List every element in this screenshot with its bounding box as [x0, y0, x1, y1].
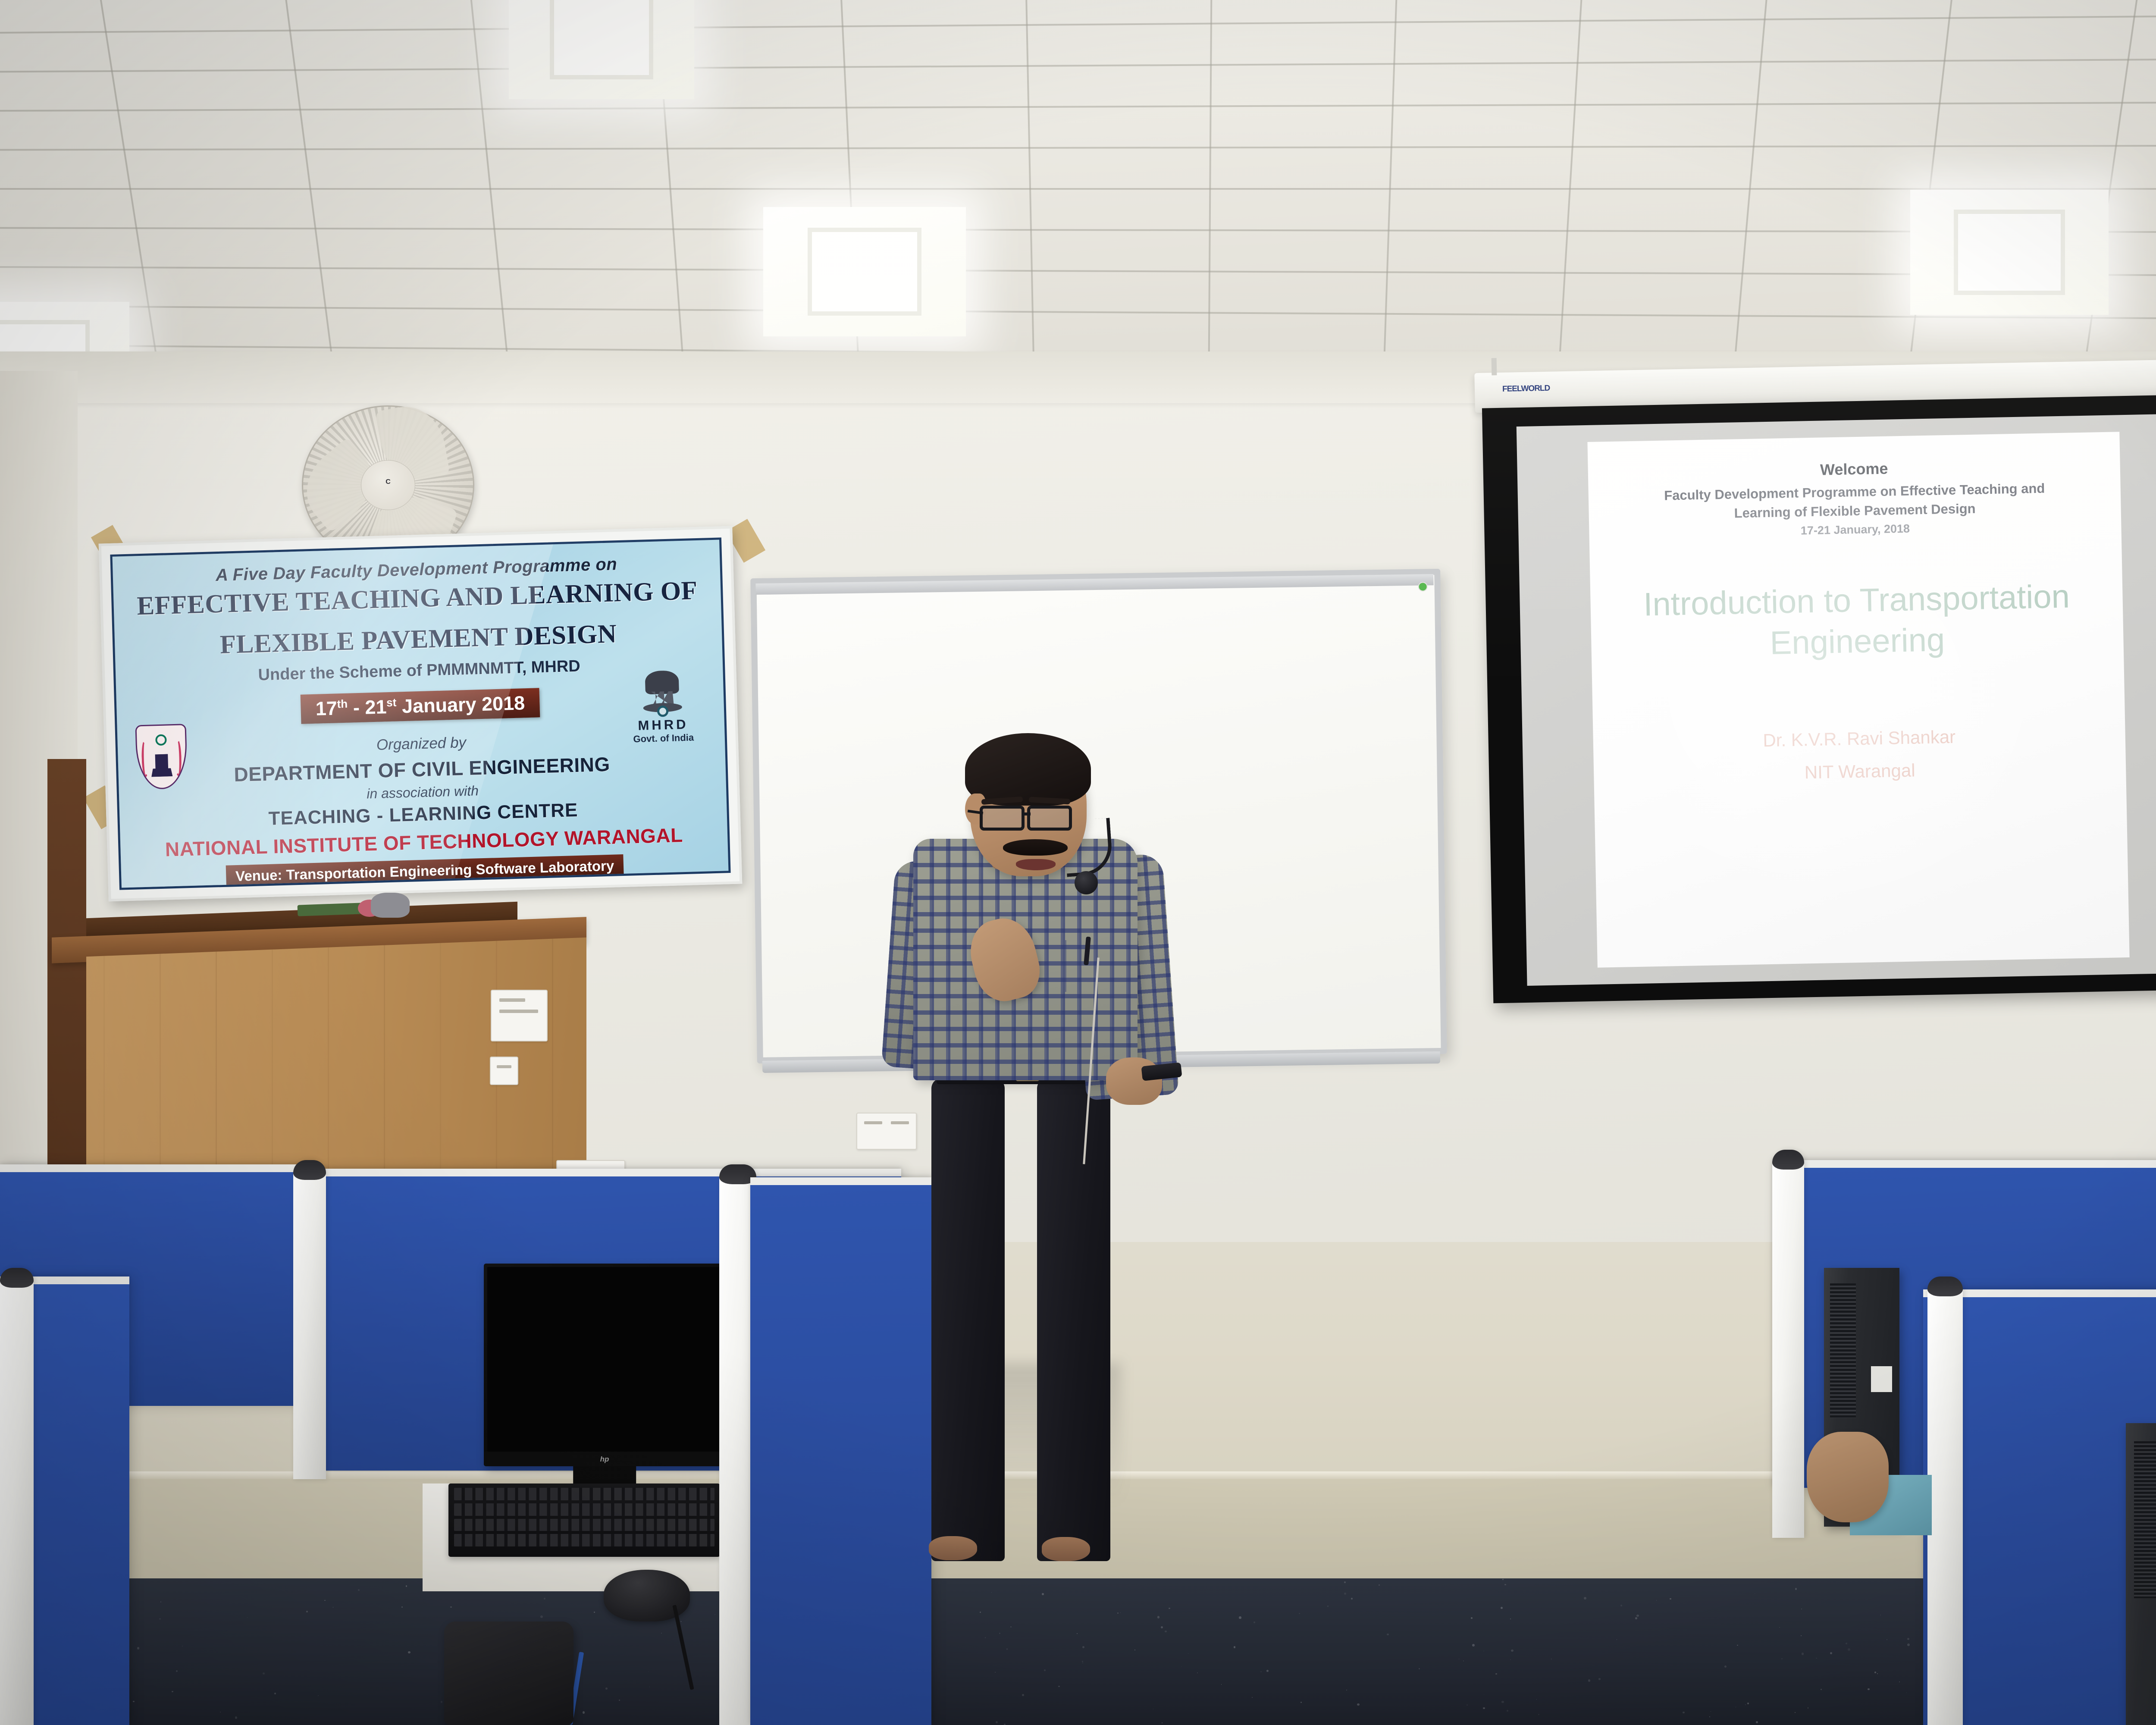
cubicle-post-left-a [0, 1268, 34, 1725]
mhrd-sublabel: Govt. of India [624, 732, 702, 745]
banner-title-line-2: FLEXIBLE PAVEMENT DESIGN [126, 617, 711, 662]
presentation-slide: Welcome Faculty Development Programme on… [1588, 432, 2130, 968]
ceiling-light-fixture-3 [1910, 190, 2109, 315]
whiteboard-corner-pin-icon [1418, 582, 1427, 591]
suspended-ceiling [0, 0, 2156, 379]
presenter-mouth [1016, 859, 1056, 870]
banner-date-band: 17th - 21st January 2018 [301, 688, 540, 724]
presenter-eyeglasses-bridge [1025, 812, 1031, 815]
fan-hub-mark: C [385, 478, 391, 486]
slide-main-title: Introduction to Transportation Engineeri… [1624, 576, 2090, 667]
presenter-moustache [1003, 839, 1068, 856]
screen-brand-logo: FEELWORLD [1502, 384, 1550, 394]
presenter-hair [965, 733, 1091, 806]
mhrd-emblem-group: MHRD Govt. of India [623, 670, 702, 745]
wall-socket-panel-2[interactable] [490, 1057, 518, 1085]
screen-white-surface: Welcome Faculty Development Programme on… [1517, 414, 2156, 986]
mhrd-label: MHRD [624, 716, 702, 734]
ceiling-light-fixture-1 [509, 0, 694, 99]
seated-participant-hand [1807, 1432, 1889, 1522]
podium-item-grey [371, 893, 410, 918]
classroom-photo-scene: C C A Five Day Faculty Development Progr… [0, 0, 2156, 1725]
presenter-eyeglasses-left-lens [980, 806, 1025, 831]
office-chair-backrest[interactable] [444, 1621, 573, 1725]
presenter-foot-right [1042, 1537, 1090, 1561]
cubicle-post-left-b [293, 1160, 326, 1479]
cubicle-post-right-a [1772, 1150, 1804, 1538]
monitor-brand-logo: hp [600, 1455, 609, 1464]
headset-microphone-capsule-icon [1075, 871, 1098, 894]
whiteboard-top-rail [755, 574, 1433, 595]
event-banner: A Five Day Faculty Development Programme… [99, 526, 743, 902]
ceiling-tile-grid [0, 0, 2156, 379]
presenter-legs [931, 1078, 1117, 1561]
podium-item-folder [298, 903, 363, 916]
keyboard-left-workstation[interactable] [448, 1483, 720, 1557]
lower-granite-floor [0, 1578, 2156, 1725]
projection-screen[interactable]: Welcome Faculty Development Programme on… [1482, 394, 2156, 1004]
monitor-left-workstation[interactable]: hp [484, 1264, 725, 1466]
wall-socket-panel-4[interactable] [856, 1113, 917, 1150]
nitw-crest-icon [135, 724, 188, 790]
presenter-hand-holding-clicker [1106, 1057, 1162, 1105]
wall-socket-panel-1[interactable] [491, 990, 548, 1041]
cubicle-post-right-b [1927, 1276, 1963, 1725]
ashoka-lion-capital-icon [638, 670, 686, 716]
presenter-foot-left [929, 1536, 977, 1560]
pc-tower-front-right[interactable] [2126, 1423, 2156, 1725]
cubicle-partition-front-left [750, 1177, 931, 1725]
ceiling-light-fixture-2 [763, 207, 966, 336]
